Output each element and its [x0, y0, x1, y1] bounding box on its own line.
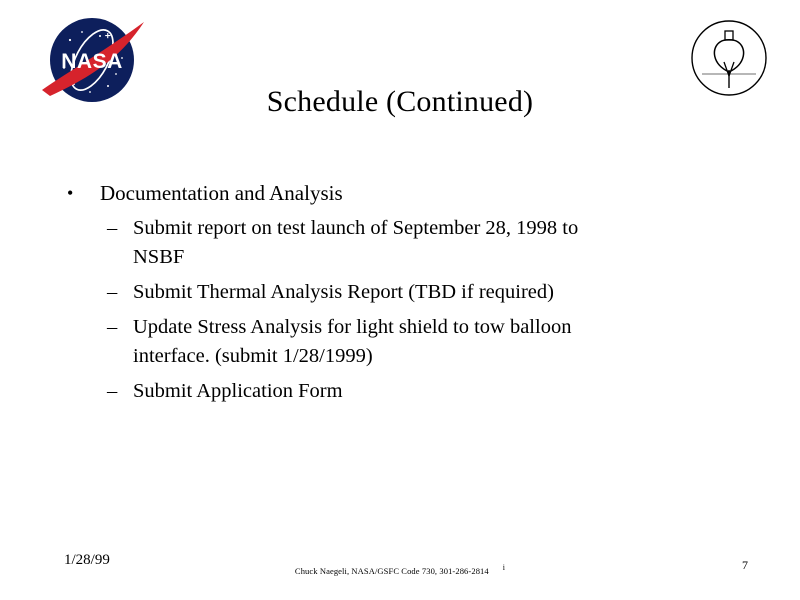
- bullet-level2-line1: Submit report on test launch of Septembe…: [133, 214, 750, 243]
- dash-marker-icon: –: [107, 214, 117, 243]
- bullet-level2-item: – Submit report on test launch of Septem…: [60, 214, 750, 272]
- nasa-wordmark: NASA: [61, 50, 123, 73]
- bullet-level2-item: – Submit Thermal Analysis Report (TBD if…: [60, 278, 750, 307]
- bullet-level2-line1: Submit Application Form: [133, 377, 750, 406]
- bullet-level2-list: – Submit report on test launch of Septem…: [60, 214, 750, 406]
- page-title: Schedule (Continued): [0, 84, 800, 120]
- bullet-level2-line1: Submit Thermal Analysis Report (TBD if r…: [133, 278, 750, 307]
- dash-marker-icon: –: [107, 278, 117, 307]
- bullet-level1-text: Documentation and Analysis: [100, 181, 343, 205]
- dash-marker-icon: –: [107, 377, 117, 406]
- footer-credit-text: Chuck Naegeli, NASA/GSFC Code 730, 301-2…: [295, 566, 489, 576]
- footer-credit: Chuck Naegeli, NASA/GSFC Code 730, 301-2…: [0, 562, 800, 577]
- footer-credit-superscript: i: [503, 563, 505, 572]
- bullet-marker-icon: •: [67, 178, 73, 208]
- bullet-level2-line2: interface. (submit 1/28/1999): [133, 342, 750, 371]
- bullet-level2-item: – Update Stress Analysis for light shiel…: [60, 313, 750, 371]
- slide-canvas: NASA Schedule (Continued) • Documentatio…: [0, 0, 800, 600]
- bullet-level1: • Documentation and Analysis: [60, 178, 750, 208]
- bullet-level2-line1: Update Stress Analysis for light shield …: [133, 313, 750, 342]
- dash-marker-icon: –: [107, 313, 117, 342]
- footer-page-number: 7: [742, 558, 748, 572]
- slide-body: • Documentation and Analysis – Submit re…: [60, 178, 750, 412]
- bullet-level2-item: – Submit Application Form: [60, 377, 750, 406]
- bullet-level2-line2: NSBF: [133, 243, 750, 272]
